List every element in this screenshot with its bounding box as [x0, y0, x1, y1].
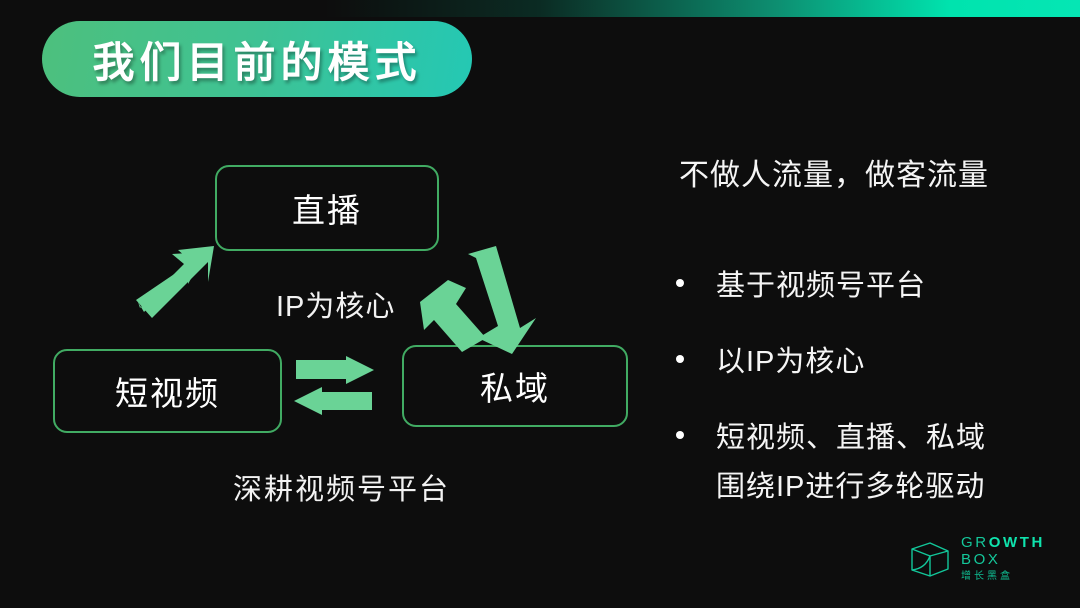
list-item: 短视频、直播、私域 围绕IP进行多轮驱动	[676, 414, 1056, 512]
logo-wordmark: GROWTH BOX 增长黑盒	[961, 534, 1080, 583]
brand-logo: GROWTH BOX 增长黑盒	[908, 534, 1080, 583]
slide-canvas: 我们目前的模式 直播 短视频 私域 IP为核心 深耕视频号平台 不做人流量，做客…	[0, 0, 1080, 608]
bullet-dot-icon	[676, 355, 684, 363]
arrow-horizontal-bidirectional-icon	[292, 356, 376, 418]
bullet-text: 短视频、直播、私域 围绕IP进行多轮驱动	[716, 414, 986, 512]
growth-box-cube-icon	[908, 539, 952, 579]
diagram-caption: 深耕视频号平台	[233, 466, 450, 508]
right-panel-headline: 不做人流量，做客流量	[679, 150, 989, 194]
top-gradient-strip	[0, 0, 1080, 17]
bullet-dot-icon	[676, 279, 684, 287]
diagram-node-private-domain-label: 私域	[480, 362, 550, 410]
right-panel-bullet-list: 基于视频号平台 以IP为核心 短视频、直播、私域 围绕IP进行多轮驱动	[676, 262, 1056, 539]
arrow-diagonal-bidirectional-icon	[420, 232, 540, 362]
logo-name-suffix: BOX	[961, 551, 1000, 568]
diagram-node-live-label: 直播	[292, 184, 362, 232]
logo-name-en: GROWTH BOX	[961, 534, 1080, 568]
logo-name-bold: OWTH	[989, 534, 1045, 551]
list-item: 以IP为核心	[676, 338, 1056, 387]
diagram-node-short-video-label: 短视频	[115, 367, 220, 415]
page-title: 我们目前的模式	[92, 29, 421, 90]
diagram-center-label: IP为核心	[276, 283, 395, 325]
bullet-text: 以IP为核心	[716, 338, 865, 387]
diagram-node-live[interactable]: 直播	[215, 165, 439, 251]
arrow-up-right-icon	[130, 240, 220, 330]
slide-title-pill: 我们目前的模式	[42, 21, 472, 97]
list-item: 基于视频号平台	[676, 262, 1056, 311]
diagram-node-short-video[interactable]: 短视频	[53, 349, 282, 433]
bullet-text: 基于视频号平台	[716, 262, 926, 311]
logo-name-prefix: GR	[961, 534, 989, 551]
bullet-dot-icon	[676, 431, 684, 439]
logo-name-cn: 增长黑盒	[961, 570, 1080, 583]
